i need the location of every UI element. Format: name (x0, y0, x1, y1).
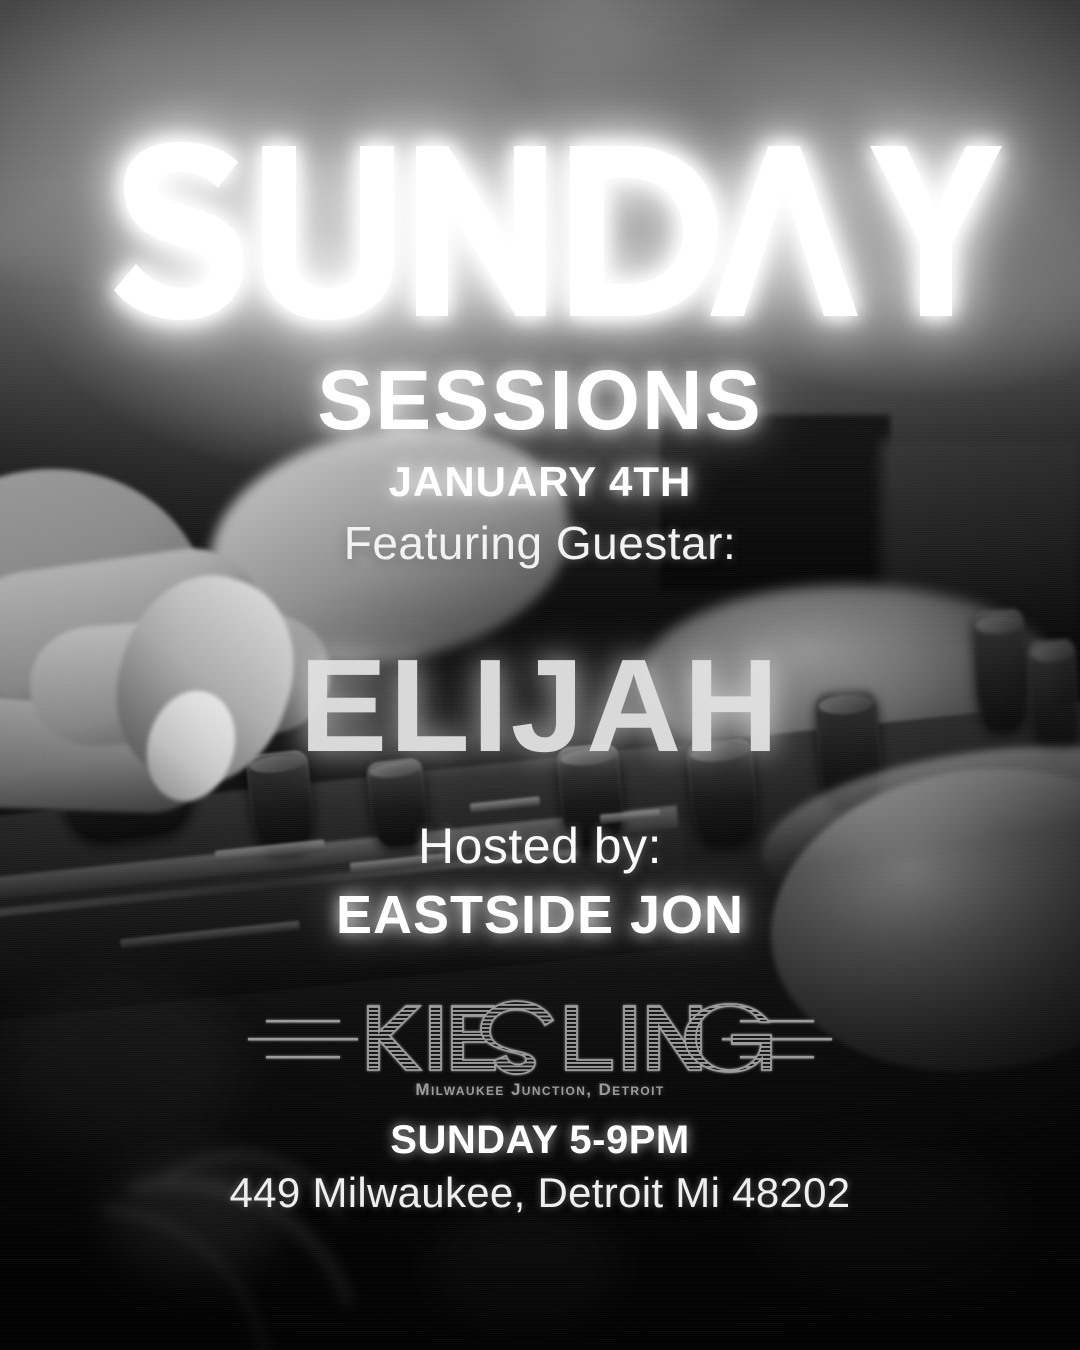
flyer-content: SUNDAY SESSIONS JANUARY 4TH Featuring Gu… (0, 0, 1080, 1350)
artist-name: ELIJAH (0, 640, 1080, 772)
event-hours: SUNDAY 5-9PM (0, 1120, 1080, 1160)
venue-address: 449 Milwaukee, Detroit Mi 48202 (0, 1168, 1080, 1218)
host-name: EASTSIDE JON (0, 888, 1080, 942)
flyer-title-primary: SUNDAY (0, 138, 1080, 324)
flyer-title-secondary: SESSIONS (0, 358, 1080, 442)
deco-rule-left-icon (248, 1020, 358, 1058)
flyer-date: JANUARY 4TH (0, 461, 1080, 503)
featuring-label: Featuring Guestar: (0, 516, 1080, 571)
venue-tagline: Milwaukee Junction, Detroit (240, 1080, 840, 1100)
kiesling-letters (368, 1001, 771, 1074)
hosted-by-label: Hosted by: (0, 816, 1080, 876)
venue-logo: Milwaukee Junction, Detroit (240, 998, 840, 1100)
event-flyer: SUNDAY SESSIONS JANUARY 4TH Featuring Gu… (0, 0, 1080, 1350)
kiesling-wordmark (240, 998, 840, 1078)
